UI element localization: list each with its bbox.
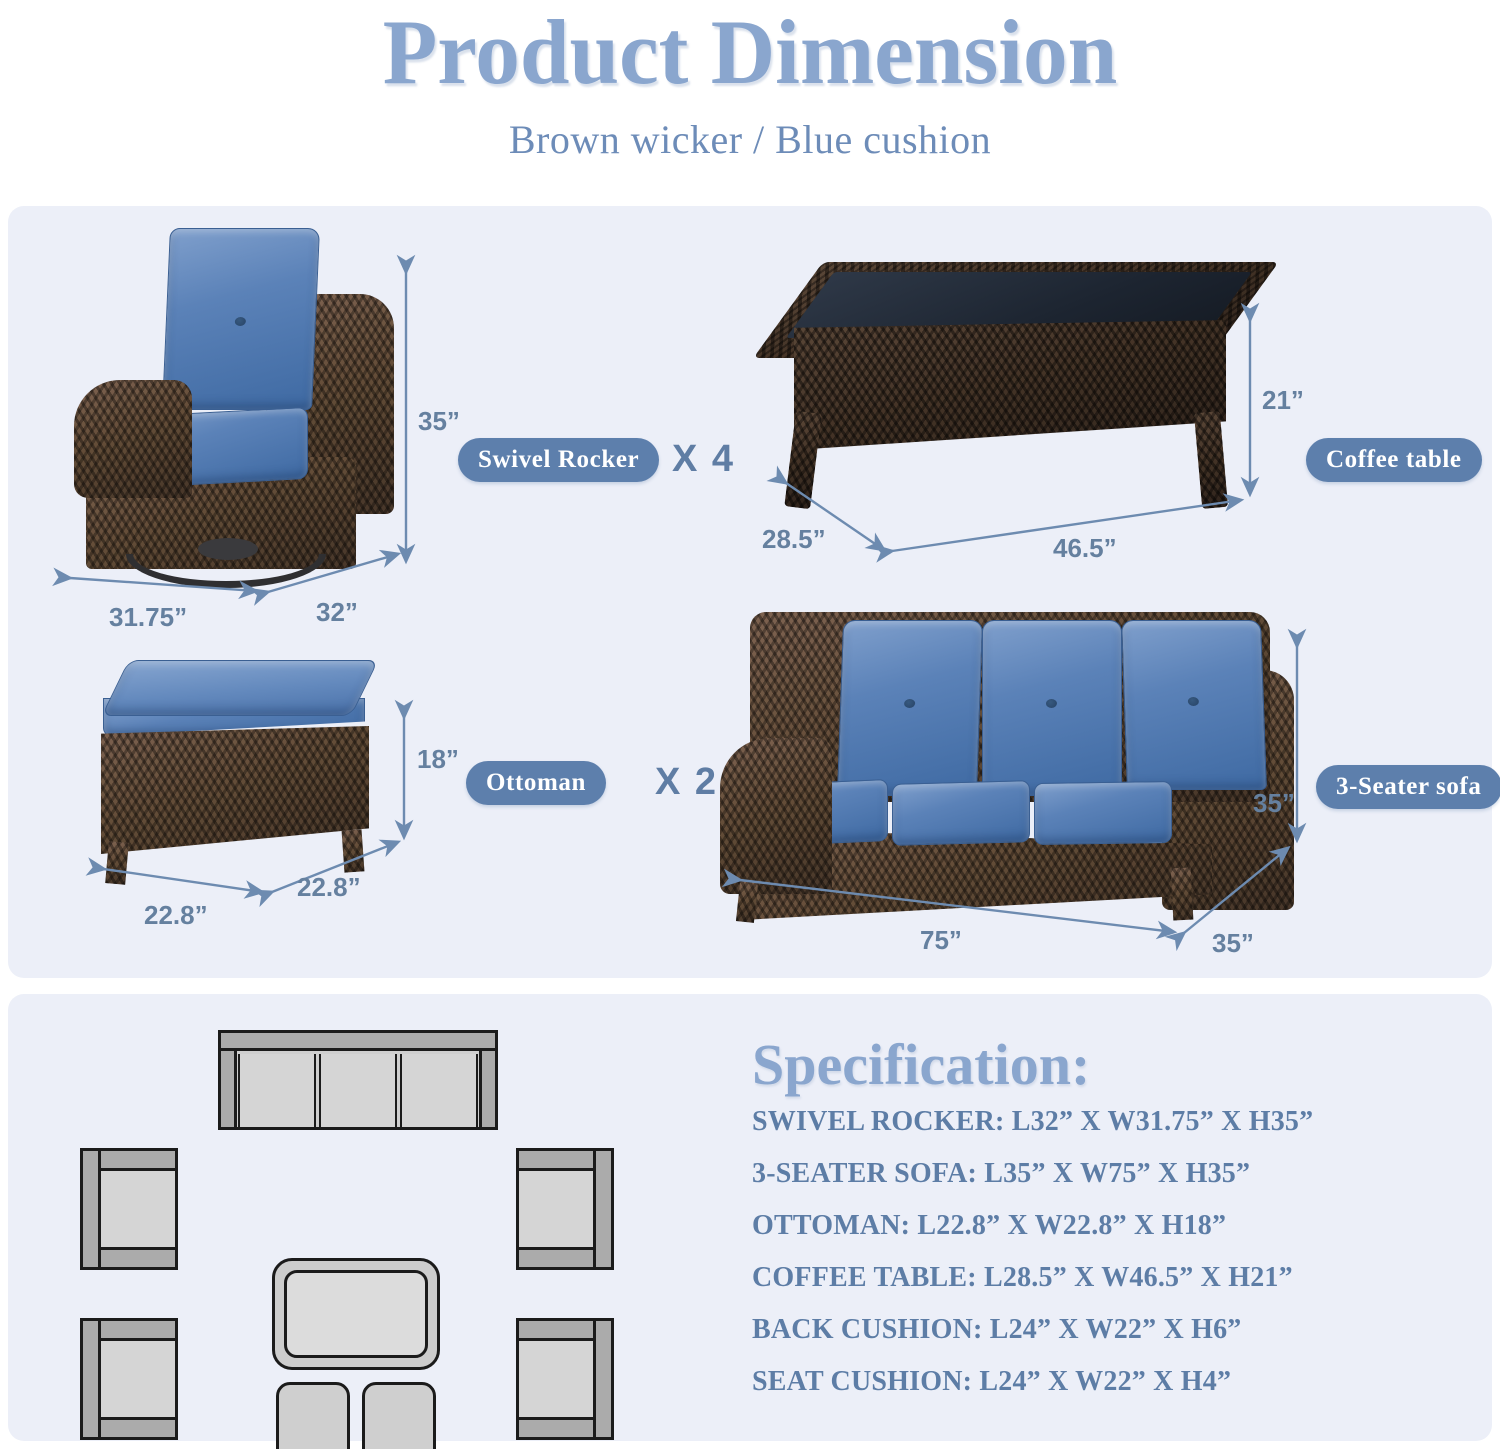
ottoman-cushion-top — [101, 660, 378, 716]
tuft-button — [1046, 699, 1057, 708]
table-depth-dim: 28.5” — [762, 524, 826, 555]
sofa-seat-cushion-2 — [892, 780, 1030, 846]
label-three-seater-sofa[interactable]: 3-Seater sofa — [1316, 765, 1500, 809]
swivel-rocker-illustration — [70, 222, 390, 584]
tuft-button — [235, 317, 246, 326]
sofa-depth-dim: 35” — [1212, 928, 1254, 959]
tuft-button — [1188, 697, 1199, 706]
spec-line-ottoman: OTTOMAN: L22.8” X W22.8” X H18” — [752, 1212, 1452, 1240]
plan-chair-back — [83, 1321, 101, 1437]
plan-sofa-seat-3 — [400, 1054, 478, 1127]
plan-table-glass — [284, 1270, 428, 1358]
three-seater-sofa-illustration — [720, 610, 1300, 920]
ottoman-leg-left — [105, 841, 129, 885]
ottoman-leg-right — [342, 829, 365, 872]
page-subtitle: Brown wicker / Blue cushion — [0, 98, 1500, 163]
sofa-back-cushion-3 — [1121, 620, 1267, 790]
table-leg-right — [1194, 411, 1228, 509]
plan-chair-left-bottom — [80, 1318, 178, 1440]
rocker-back-cushion — [162, 228, 320, 410]
quantity-swivel-rocker: X 4 — [672, 438, 735, 481]
table-leg-left — [784, 411, 822, 509]
ottoman-height-dim: 18” — [417, 744, 459, 775]
plan-chair-back — [83, 1151, 101, 1267]
spec-line-coffee-table: COFFEE TABLE: L28.5” X W46.5” X H21” — [752, 1264, 1452, 1292]
plan-chair-back — [593, 1151, 611, 1267]
rocker-width-dim: 31.75” — [109, 602, 187, 633]
sofa-arm-left — [720, 738, 832, 894]
plan-chair-right-top — [516, 1148, 614, 1270]
header: Product Dimension Brown wicker / Blue cu… — [0, 0, 1500, 200]
rocker-arm-left — [74, 380, 192, 498]
sofa-seat-cushion-3 — [1034, 781, 1172, 845]
label-swivel-rocker[interactable]: Swivel Rocker — [458, 438, 659, 482]
plan-chair-right-bottom — [516, 1318, 614, 1440]
plan-sofa-arm-left — [221, 1051, 237, 1127]
rocker-swivel-base — [126, 554, 326, 588]
sofa-height-dim: 35” — [1253, 788, 1295, 819]
plan-coffee-table — [272, 1258, 440, 1370]
layout-plan-diagram — [72, 1030, 712, 1420]
table-height-dim: 21” — [1262, 385, 1304, 416]
label-coffee-table[interactable]: Coffee table — [1306, 438, 1482, 482]
rocker-height-dim: 35” — [418, 406, 460, 437]
spec-line-three-seater-sofa: 3-SEATER SOFA: L35” X W75” X H35” — [752, 1160, 1452, 1188]
sofa-width-dim: 75” — [920, 925, 962, 956]
plan-chair-back — [593, 1321, 611, 1437]
rocker-depth-dim: 32” — [316, 597, 358, 628]
plan-sofa-arm-right — [479, 1051, 495, 1127]
spec-line-swivel-rocker: SWIVEL ROCKER: L32” X W31.75” X H35” — [752, 1108, 1452, 1136]
infographic-page: Product Dimension Brown wicker / Blue cu… — [0, 0, 1500, 1449]
plan-ottoman-1 — [276, 1382, 350, 1449]
table-apron — [794, 320, 1226, 450]
specification-heading: Specification: — [752, 1035, 1452, 1096]
spec-line-seat-cushion: SEAT CUSHION: L24” X W22” X H4” — [752, 1368, 1452, 1396]
label-ottoman[interactable]: Ottoman — [466, 761, 606, 805]
ottoman-depth-dim: 22.8” — [297, 872, 361, 903]
page-title: Product Dimension — [23, 0, 1478, 98]
quantity-ottoman: X 2 — [655, 761, 718, 804]
ottoman-width-dim: 22.8” — [144, 900, 208, 931]
sofa-back-cushion-1 — [837, 620, 983, 796]
plan-sofa — [218, 1030, 498, 1130]
spec-line-back-cushion: BACK CUSHION: L24” X W22” X H6” — [752, 1316, 1452, 1344]
ottoman-base — [101, 726, 369, 854]
plan-sofa-back — [221, 1033, 495, 1051]
tuft-button — [904, 699, 915, 708]
specification-block: Specification: SWIVEL ROCKER: L32” X W31… — [752, 1035, 1452, 1420]
plan-ottoman-2 — [362, 1382, 436, 1449]
ottoman-illustration — [95, 660, 395, 890]
sofa-back-cushion-2 — [982, 620, 1122, 796]
sofa-leg-right — [1171, 868, 1194, 921]
plan-sofa-seat-2 — [319, 1054, 397, 1127]
plan-chair-left-top — [80, 1148, 178, 1270]
coffee-table-illustration — [780, 262, 1250, 512]
table-width-dim: 46.5” — [1053, 533, 1117, 564]
plan-sofa-seat-1 — [238, 1054, 316, 1127]
